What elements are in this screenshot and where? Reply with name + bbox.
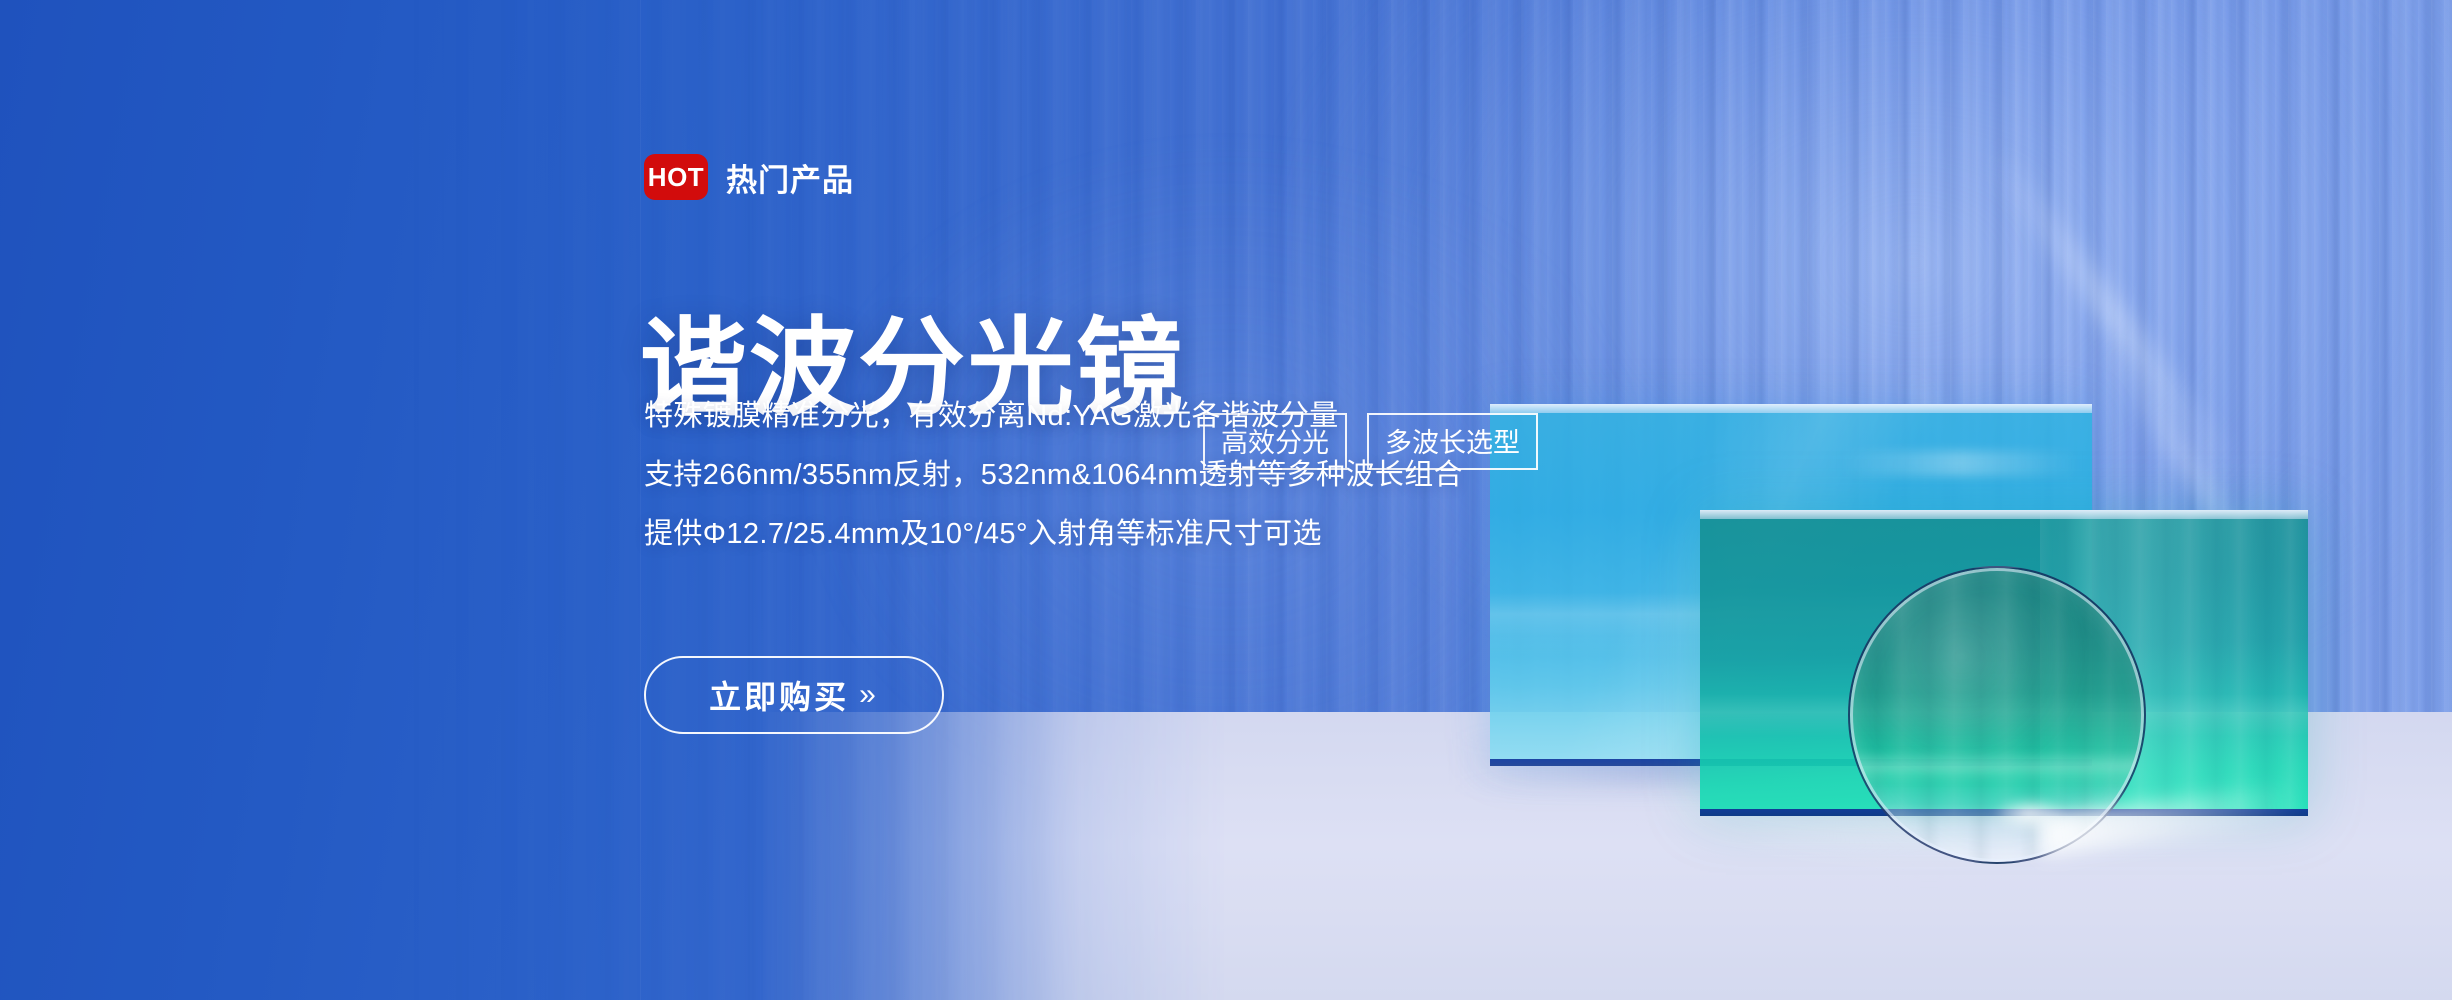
kicker-row: HOT 热门产品 — [644, 154, 854, 200]
kicker-label: 热门产品 — [726, 155, 854, 200]
description-line: 支持266nm/355nm反射，532nm&1064nm透射等多种波长组合 — [644, 455, 1463, 495]
hero-content: HOT 热门产品 谐波分光镜 高效分光 多波长选型 特殊镀膜精准分光，有效分离N… — [640, 0, 1740, 1000]
description-line: 提供Φ12.7/25.4mm及10°/45°入射角等标准尺寸可选 — [644, 514, 1463, 554]
panel-highlight — [1839, 451, 2080, 476]
product-hero-banner: HOT 热门产品 谐波分光镜 高效分光 多波长选型 特殊镀膜精准分光，有效分离N… — [0, 0, 2452, 1000]
buy-now-label: 立即购买 — [709, 672, 849, 718]
description-line: 特殊镀膜精准分光，有效分离Nd:YAG激光各谐波分量 — [644, 396, 1463, 436]
chevron-right-icon: » — [859, 678, 879, 712]
buy-now-button[interactable]: 立即购买 » — [644, 656, 944, 734]
description-block: 特殊镀膜精准分光，有效分离Nd:YAG激光各谐波分量 支持266nm/355nm… — [644, 396, 1463, 554]
hot-badge: HOT — [644, 154, 708, 200]
panel-top-edge — [1700, 510, 2308, 519]
